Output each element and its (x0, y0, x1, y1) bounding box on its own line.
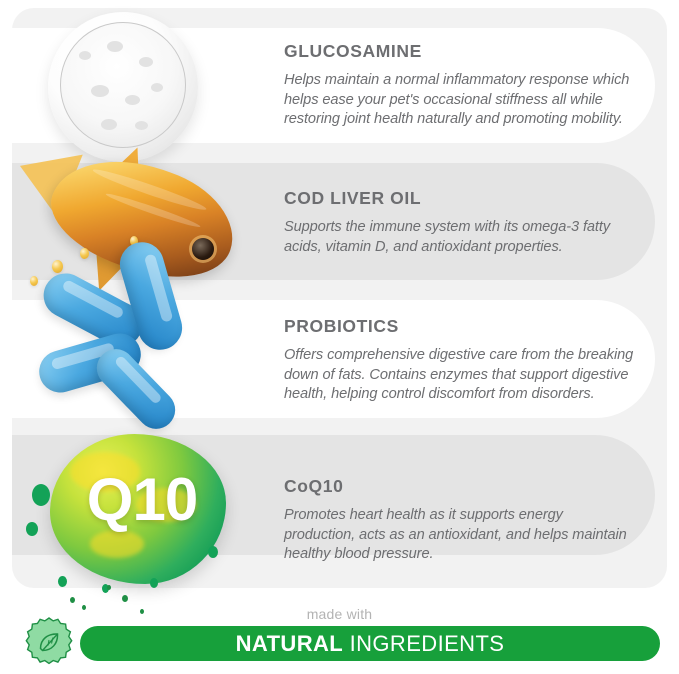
card-text-cod-liver-oil: COD LIVER OIL Supports the immune system… (284, 188, 634, 257)
banner-bold-text: NATURAL (236, 631, 343, 656)
card-text-glucosamine: GLUCOSAMINE Helps maintain a normal infl… (284, 41, 634, 130)
leaf-badge-icon (22, 615, 76, 669)
card-title: PROBIOTICS (284, 316, 634, 337)
leaf-badge-svg (22, 615, 76, 669)
card-description: Promotes heart health as it supports ene… (284, 506, 634, 565)
natural-ingredients-banner[interactable]: NATURAL INGREDIENTS (80, 626, 660, 661)
infographic-root: Q10 GLUCOSAMINE Helps maintain a normal … (0, 0, 679, 669)
content-panel: Q10 GLUCOSAMINE Helps maintain a normal … (12, 8, 667, 588)
card-text-probiotics: PROBIOTICS Offers comprehensive digestiv… (284, 316, 634, 405)
card-description: Offers comprehensive digestive care from… (284, 346, 634, 405)
card-title: CoQ10 (284, 476, 634, 497)
card-text-coq10: CoQ10 Promotes heart health as it suppor… (284, 476, 634, 565)
banner-text: NATURAL INGREDIENTS (236, 631, 505, 657)
made-with-label: made with (0, 606, 679, 622)
card-title: COD LIVER OIL (284, 188, 634, 209)
banner-light-text: INGREDIENTS (343, 631, 504, 656)
card-description: Helps maintain a normal inflammatory res… (284, 71, 634, 130)
card-description: Supports the immune system with its omeg… (284, 218, 634, 257)
card-title: GLUCOSAMINE (284, 41, 634, 62)
